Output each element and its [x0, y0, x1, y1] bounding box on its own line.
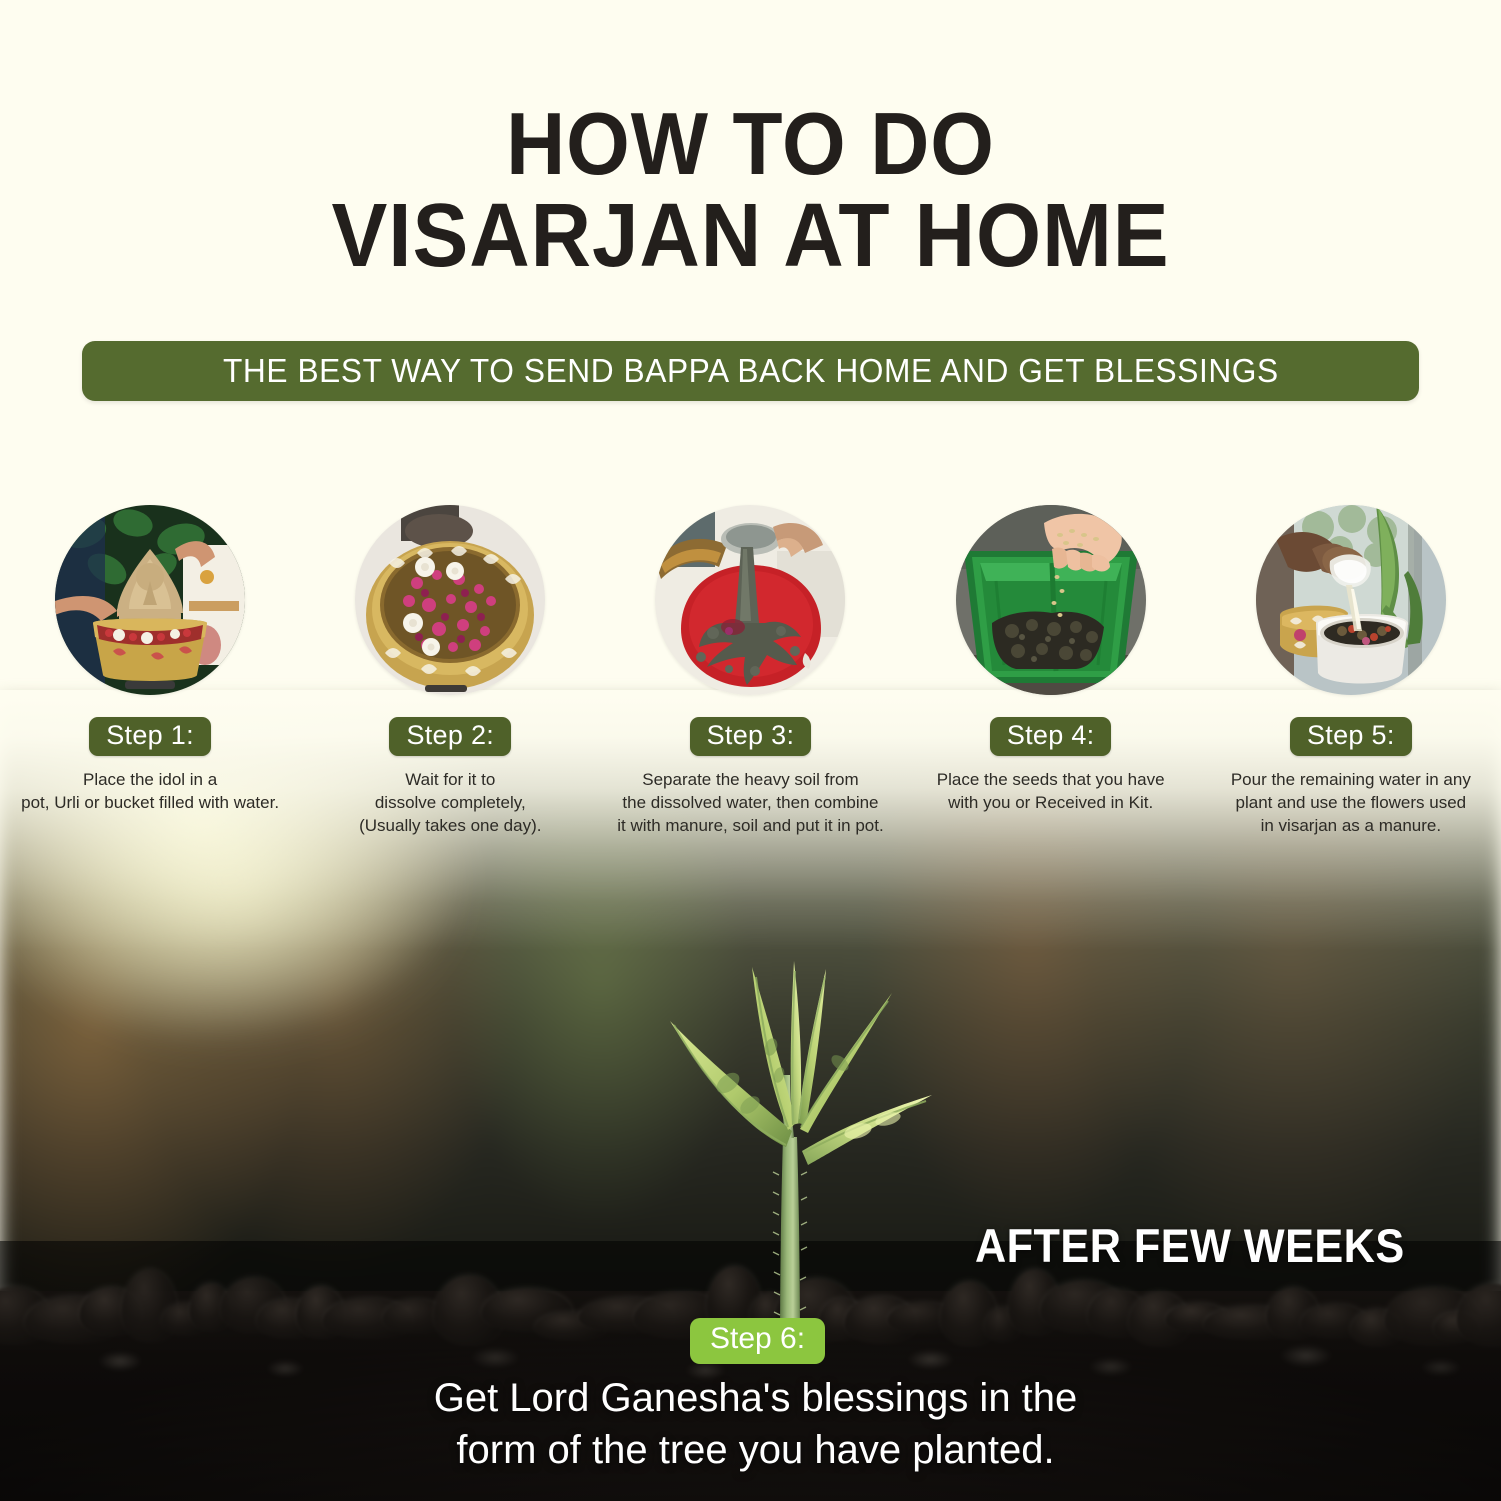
subtitle-banner: THE BEST WAY TO SEND BAPPA BACK HOME AND… [82, 341, 1419, 401]
step-card-4: Step 4: Place the seeds that you have wi… [901, 505, 1201, 845]
step-6-description: Get Lord Ganesha's blessings in the form… [0, 1372, 1501, 1476]
step-1-photo [55, 505, 245, 695]
page-title: HOW TO DO VISARJAN AT HOME [53, 98, 1449, 283]
step-3-description: Separate the heavy soil from the dissolv… [617, 769, 883, 838]
step-3-photo [655, 505, 845, 695]
step-3-badge: Step 3: [690, 717, 812, 756]
step-card-5: Step 5: Pour the remaining water in any … [1201, 505, 1501, 845]
step-4-badge: Step 4: [990, 717, 1112, 756]
step-5-description: Pour the remaining water in any plant an… [1231, 769, 1471, 838]
step-5-photo [1256, 505, 1446, 695]
step-2-badge: Step 2: [389, 717, 511, 756]
step-1-badge: Step 1: [89, 717, 211, 756]
step-5-badge: Step 5: [1290, 717, 1412, 756]
step-4-description: Place the seeds that you have with you o… [937, 769, 1165, 815]
step-2-description: Wait for it to dissolve completely, (Usu… [359, 769, 541, 838]
steps-row: Step 1: Place the idol in a pot, Urli or… [0, 505, 1501, 845]
page-title-line1: HOW TO DO [53, 98, 1449, 190]
page-title-line2: VISARJAN AT HOME [53, 190, 1449, 284]
step-card-3: Step 3: Separate the heavy soil from the… [600, 505, 900, 845]
step-2-photo [355, 505, 545, 695]
step-1-description: Place the idol in a pot, Urli or bucket … [21, 769, 279, 815]
after-few-weeks-label: AFTER FEW WEEKS [975, 1218, 1405, 1273]
subtitle-text: THE BEST WAY TO SEND BAPPA BACK HOME AND… [223, 352, 1279, 390]
step-card-2: Step 2: Wait for it to dissolve complete… [300, 505, 600, 845]
step-card-1: Step 1: Place the idol in a pot, Urli or… [0, 505, 300, 845]
step-6-badge: Step 6: [690, 1318, 825, 1364]
step-4-photo [956, 505, 1146, 695]
